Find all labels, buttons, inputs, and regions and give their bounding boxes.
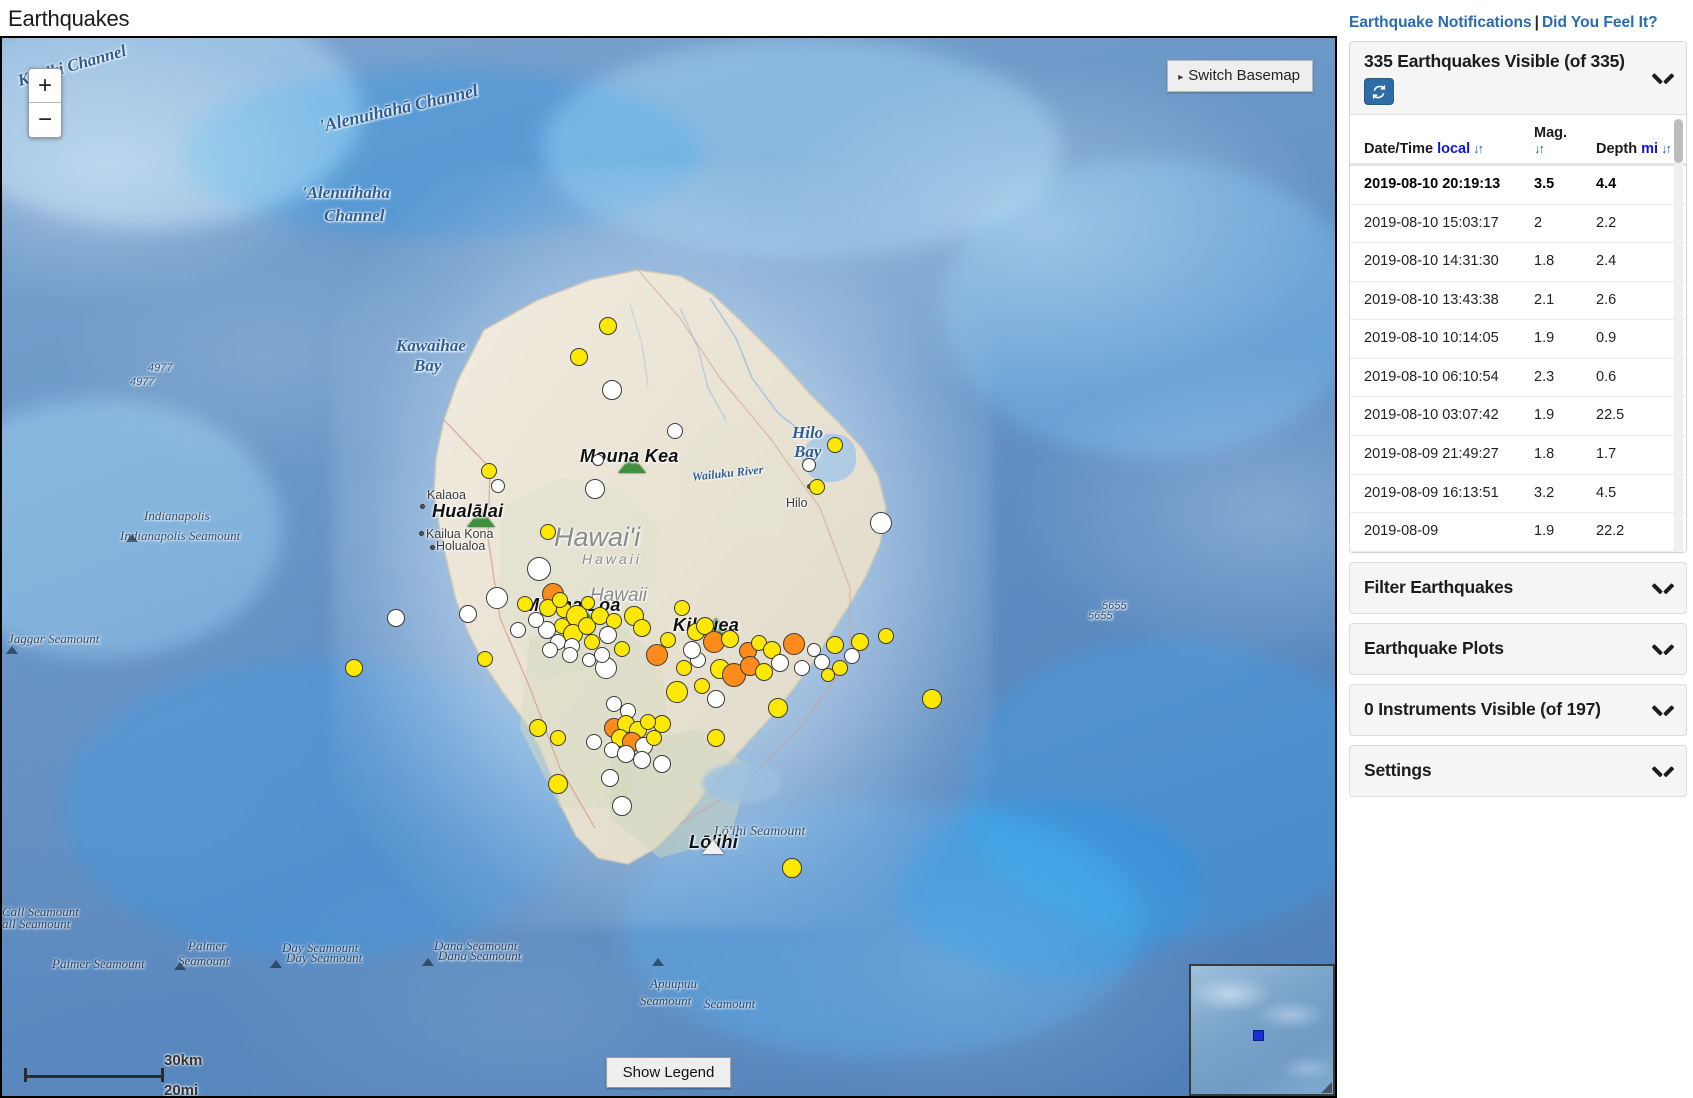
table-row[interactable]: 2019-08-10 15:03:1722.2	[1350, 204, 1686, 243]
earthquake-marker[interactable]	[844, 648, 860, 664]
accordion-title: Filter Earthquakes	[1364, 577, 1513, 597]
accordion-section-3[interactable]: 0 Instruments Visible (of 197)	[1349, 684, 1687, 736]
earthquake-marker[interactable]	[922, 689, 942, 709]
col-mag-label: Mag.	[1534, 125, 1567, 141]
earthquake-marker[interactable]	[540, 524, 556, 540]
seamount-icon	[270, 960, 282, 968]
city-dot-icon	[420, 504, 425, 509]
map-scale-bar: 30km 20mi	[24, 1068, 164, 1082]
earthquake-marker[interactable]	[707, 690, 725, 708]
inset-viewport-box[interactable]	[1253, 1030, 1264, 1041]
right-sidebar: Earthquake Notifications|Did You Feel It…	[1345, 0, 1693, 1098]
table-scrollbar-thumb[interactable]	[1674, 119, 1683, 163]
overview-inset-map[interactable]	[1189, 964, 1335, 1096]
earthquake-marker[interactable]	[528, 612, 544, 628]
cell-magnitude: 1.9	[1528, 320, 1590, 359]
table-row[interactable]: 2019-08-10 20:19:133.54.4	[1350, 165, 1686, 205]
earthquake-marker[interactable]	[510, 622, 526, 638]
cell-depth: 4.4	[1590, 165, 1686, 205]
cell-depth: 1.7	[1590, 435, 1686, 474]
earthquake-marker[interactable]	[694, 678, 710, 694]
earthquake-marker[interactable]	[477, 651, 493, 667]
cell-datetime: 2019-08-09 16:13:51	[1350, 474, 1528, 513]
zoom-in-button[interactable]: +	[29, 69, 61, 103]
earthquake-marker[interactable]	[674, 600, 690, 616]
table-row[interactable]: 2019-08-09 21:49:271.81.7	[1350, 435, 1686, 474]
refresh-icon[interactable]	[1364, 78, 1394, 105]
earthquake-marker[interactable]	[612, 796, 632, 816]
earthquake-marker[interactable]	[527, 557, 551, 581]
earthquake-marker[interactable]	[491, 479, 505, 493]
cell-datetime: 2019-08-10 03:07:42	[1350, 397, 1528, 436]
col-mag[interactable]: Mag. ↓↑	[1528, 115, 1590, 165]
earthquakes-visible-card: 335 Earthquakes Visible (of 335)	[1349, 41, 1687, 553]
cell-magnitude: 3.5	[1528, 165, 1590, 205]
volcano-icon	[618, 456, 646, 473]
table-row[interactable]: 2019-08-09 16:13:513.24.5	[1350, 474, 1686, 513]
inset-resize-grip[interactable]	[1321, 1082, 1332, 1093]
table-row[interactable]: 2019-08-10 10:14:051.90.9	[1350, 320, 1686, 359]
earthquake-marker[interactable]	[633, 619, 651, 637]
table-header-row: Date/Time local↓↑ Mag. ↓↑ Depth mi↓↑	[1350, 115, 1686, 165]
earthquake-marker[interactable]	[601, 769, 619, 787]
cell-datetime: 2019-08-09	[1350, 513, 1528, 552]
chevron-down-icon[interactable]	[1654, 643, 1672, 654]
earthquake-marker[interactable]	[809, 479, 825, 495]
cell-depth: 2.4	[1590, 243, 1686, 282]
accordion-section-4[interactable]: Settings	[1349, 745, 1687, 797]
col-datetime-unit[interactable]: local	[1437, 141, 1470, 157]
earthquake-marker[interactable]	[666, 681, 688, 703]
seamount-icon	[174, 962, 186, 970]
earthquake-marker[interactable]	[517, 596, 533, 612]
cell-magnitude: 2	[1528, 204, 1590, 243]
cell-magnitude: 1.9	[1528, 397, 1590, 436]
earthquake-marker[interactable]	[481, 463, 497, 479]
earthquake-marker[interactable]	[683, 641, 701, 659]
earthquake-marker[interactable]	[721, 630, 739, 648]
earthquake-marker[interactable]	[529, 719, 547, 737]
earthquake-table: Date/Time local↓↑ Mag. ↓↑ Depth mi↓↑	[1350, 115, 1686, 552]
chevron-down-icon[interactable]	[1654, 704, 1672, 715]
earthquake-notifications-link[interactable]: Earthquake Notifications	[1349, 14, 1532, 31]
earthquake-marker[interactable]	[602, 380, 622, 400]
table-row[interactable]: 2019-08-091.922.2	[1350, 513, 1686, 552]
chevron-down-icon[interactable]	[1654, 582, 1672, 593]
cell-depth: 4.5	[1590, 474, 1686, 513]
cell-magnitude: 1.8	[1528, 435, 1590, 474]
earthquake-marker[interactable]	[653, 755, 671, 773]
earthquake-marker[interactable]	[771, 654, 789, 672]
cell-depth: 22.5	[1590, 397, 1686, 436]
panel-top-links: Earthquake Notifications|Did You Feel It…	[1345, 0, 1693, 41]
earthquake-marker[interactable]	[827, 437, 843, 453]
earthquake-marker[interactable]	[550, 730, 566, 746]
earthquake-table-body: 2019-08-10 20:19:133.54.42019-08-10 15:0…	[1350, 165, 1686, 552]
sort-datetime-icon[interactable]: ↓↑	[1473, 141, 1482, 156]
cell-magnitude: 2.1	[1528, 281, 1590, 320]
earthquake-marker[interactable]	[794, 660, 810, 676]
earthquake-marker[interactable]	[646, 730, 662, 746]
cell-datetime: 2019-08-10 13:43:38	[1350, 281, 1528, 320]
page-title: Earthquakes	[8, 6, 129, 32]
scale-mi-label: 20mi	[164, 1082, 198, 1098]
cell-magnitude: 1.9	[1528, 513, 1590, 552]
earthquake-map[interactable]: Kahiki Channel'Alenuihāhā Channel'Alenui…	[0, 36, 1337, 1098]
earthquake-marker[interactable]	[599, 317, 617, 335]
earthquake-marker[interactable]	[581, 596, 595, 610]
col-depth-unit[interactable]: mi	[1641, 141, 1658, 157]
loihi-volcano-icon	[702, 840, 724, 854]
col-datetime-label: Date/Time	[1364, 141, 1433, 157]
earthquake-table-wrap: Date/Time local↓↑ Mag. ↓↑ Depth mi↓↑	[1350, 115, 1686, 552]
cell-magnitude: 3.2	[1528, 474, 1590, 513]
city-dot-icon	[430, 545, 435, 550]
col-depth-label: Depth	[1596, 141, 1637, 157]
col-datetime[interactable]: Date/Time local↓↑	[1350, 115, 1528, 165]
earthquake-marker[interactable]	[594, 647, 610, 663]
earthquake-marker[interactable]	[542, 642, 558, 658]
earthquake-marker[interactable]	[614, 641, 630, 657]
hawaii-island-landmass	[380, 208, 940, 888]
map-zoom-control[interactable]: + −	[28, 68, 62, 138]
link-separator: |	[1535, 14, 1539, 31]
zoom-out-button[interactable]: −	[29, 103, 61, 137]
accordion-section-1[interactable]: Filter Earthquakes	[1349, 562, 1687, 614]
earthquake-marker[interactable]	[486, 587, 508, 609]
cell-datetime: 2019-08-10 20:19:13	[1350, 165, 1528, 205]
volcano-icon	[467, 510, 495, 527]
earthquake-marker[interactable]	[802, 458, 816, 472]
accordion-section-2[interactable]: Earthquake Plots	[1349, 623, 1687, 675]
earthquake-marker[interactable]	[870, 512, 892, 534]
accordion-title: Earthquake Plots	[1364, 638, 1504, 658]
seamount-icon	[6, 646, 18, 654]
earthquake-marker[interactable]	[387, 609, 405, 627]
accordion-title: Settings	[1364, 760, 1431, 780]
seamount-icon	[652, 958, 664, 966]
earthquake-marker[interactable]	[707, 729, 725, 747]
seamount-icon	[422, 958, 434, 966]
scale-bar-line	[24, 1068, 164, 1082]
cell-datetime: 2019-08-09 21:49:27	[1350, 435, 1528, 474]
earthquake-marker[interactable]	[345, 659, 363, 677]
show-legend-button[interactable]: Show Legend	[606, 1057, 732, 1088]
caret-right-icon: ▸	[1178, 72, 1183, 83]
cell-magnitude: 2.3	[1528, 358, 1590, 397]
city-dot-icon	[419, 531, 424, 536]
earthquakes-visible-header[interactable]: 335 Earthquakes Visible (of 335)	[1350, 42, 1686, 115]
chevron-down-icon[interactable]	[1654, 73, 1672, 84]
switch-basemap-label: Switch Basemap	[1188, 67, 1300, 84]
cell-magnitude: 1.8	[1528, 243, 1590, 282]
earthquake-marker[interactable]	[459, 605, 477, 623]
earthquake-marker[interactable]	[562, 647, 578, 663]
cell-depth: 0.9	[1590, 320, 1686, 359]
earthquake-marker[interactable]	[570, 348, 588, 366]
earthquake-marker[interactable]	[548, 774, 568, 794]
table-scrollbar[interactable]	[1674, 119, 1683, 552]
cell-datetime: 2019-08-10 06:10:54	[1350, 358, 1528, 397]
sort-depth-icon[interactable]: ↓↑	[1661, 141, 1670, 156]
sort-mag-icon[interactable]: ↓↑	[1534, 141, 1543, 156]
did-you-feel-it-link[interactable]: Did You Feel It?	[1542, 14, 1658, 31]
cell-datetime: 2019-08-10 10:14:05	[1350, 320, 1528, 359]
earthquake-marker[interactable]	[783, 633, 805, 655]
seamount-icon	[126, 534, 138, 542]
cell-datetime: 2019-08-10 15:03:17	[1350, 204, 1528, 243]
earthquake-marker[interactable]	[592, 454, 604, 466]
earthquake-marker[interactable]	[599, 626, 617, 644]
table-row[interactable]: 2019-08-10 13:43:382.12.6	[1350, 281, 1686, 320]
earthquake-marker[interactable]	[585, 479, 605, 499]
earthquake-marker[interactable]	[755, 663, 773, 681]
earthquake-marker[interactable]	[878, 628, 894, 644]
earthquake-table-scroll[interactable]: Date/Time local↓↑ Mag. ↓↑ Depth mi↓↑	[1350, 115, 1686, 552]
table-row[interactable]: 2019-08-10 14:31:301.82.4	[1350, 243, 1686, 282]
cell-depth: 2.2	[1590, 204, 1686, 243]
switch-basemap-button[interactable]: ▸Switch Basemap	[1167, 60, 1313, 92]
coastal-water	[702, 763, 782, 803]
cell-depth: 2.6	[1590, 281, 1686, 320]
accordion-group: Filter EarthquakesEarthquake Plots0 Inst…	[1345, 562, 1693, 797]
table-row[interactable]: 2019-08-10 03:07:421.922.5	[1350, 397, 1686, 436]
bathymetry-shape	[942, 158, 1337, 458]
earthquake-marker[interactable]	[660, 632, 676, 648]
earthquake-marker[interactable]	[768, 698, 788, 718]
chevron-down-icon[interactable]	[1654, 765, 1672, 776]
accordion-title: 0 Instruments Visible (of 197)	[1364, 699, 1601, 719]
earthquake-marker[interactable]	[667, 423, 683, 439]
earthquake-marker[interactable]	[633, 751, 651, 769]
cell-datetime: 2019-08-10 14:31:30	[1350, 243, 1528, 282]
earthquake-marker[interactable]	[826, 636, 844, 654]
scale-km-label: 30km	[164, 1052, 202, 1069]
cell-depth: 0.6	[1590, 358, 1686, 397]
earthquake-marker[interactable]	[782, 858, 802, 878]
table-row[interactable]: 2019-08-10 06:10:542.30.6	[1350, 358, 1686, 397]
earthquake-marker[interactable]	[552, 592, 568, 608]
col-depth[interactable]: Depth mi↓↑	[1590, 115, 1686, 165]
map-canvas[interactable]: Kahiki Channel'Alenuihāhā Channel'Alenui…	[2, 38, 1335, 1096]
earthquakes-visible-title: 335 Earthquakes Visible (of 335)	[1364, 51, 1674, 72]
earthquake-marker[interactable]	[640, 714, 656, 730]
earthquake-marker[interactable]	[582, 653, 596, 667]
cell-depth: 22.2	[1590, 513, 1686, 552]
earthquake-marker[interactable]	[821, 668, 835, 682]
earthquake-marker[interactable]	[586, 734, 602, 750]
